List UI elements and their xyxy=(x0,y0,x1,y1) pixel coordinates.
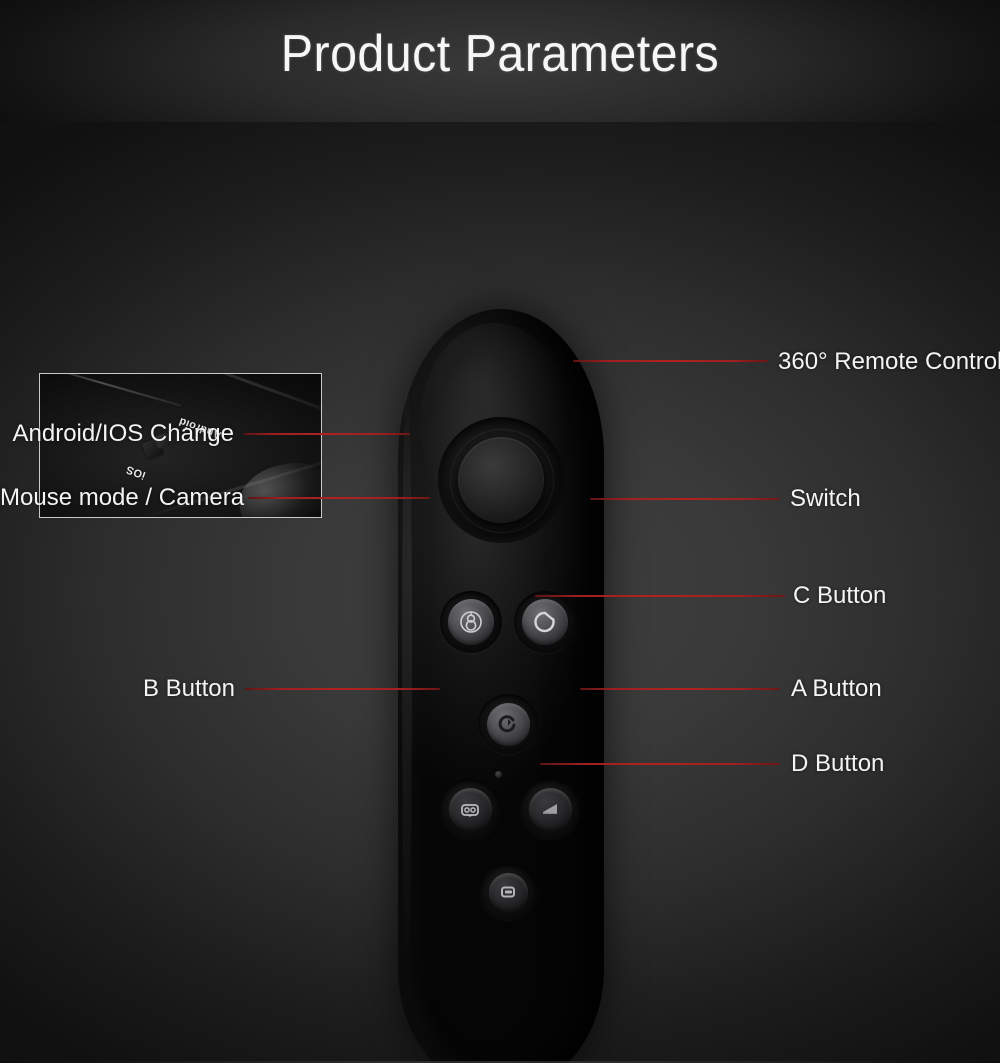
leader-line-mouse-mode-camera xyxy=(248,497,430,499)
c-button-face xyxy=(487,703,530,746)
callout-label-a-button: A Button xyxy=(791,677,882,701)
callout-label-c-button: C Button xyxy=(793,584,886,608)
leader-line-b-button xyxy=(245,688,440,690)
leader-line-android-ios-change xyxy=(244,433,410,435)
d-button-icon xyxy=(497,881,519,903)
mouse-camera-icon xyxy=(458,609,484,635)
leader-line-remote-control xyxy=(573,360,768,362)
callout-label-b-button: B Button xyxy=(0,677,235,701)
a-button-icon xyxy=(538,797,562,821)
leader-line-a-button xyxy=(580,688,780,690)
vr-goggles-icon xyxy=(458,797,482,821)
d-button[interactable] xyxy=(480,864,536,920)
callout-label-mouse-mode-camera: Mouse mode / Camera xyxy=(0,486,238,510)
callout-label-d-button: D Button xyxy=(791,752,884,776)
product-stage: iOS Android xyxy=(0,122,1000,1063)
joystick-well[interactable] xyxy=(438,417,564,543)
callout-label-remote-control: 360° Remote Control xyxy=(778,350,1000,374)
product-parameters-page: Product Parameters iOS Android xyxy=(0,0,1000,1063)
a-button-face xyxy=(529,788,572,831)
d-button-face xyxy=(489,873,528,912)
power-switch-button-face xyxy=(522,599,568,645)
b-button-face xyxy=(449,788,492,831)
leader-line-c-button xyxy=(535,595,785,597)
vr-remote-controller xyxy=(398,309,604,1063)
a-button[interactable] xyxy=(520,779,580,839)
power-switch-button[interactable] xyxy=(514,591,576,653)
callout-label-switch: Switch xyxy=(790,487,861,511)
mouse-camera-button[interactable] xyxy=(440,591,502,653)
led-indicator xyxy=(495,771,502,778)
callout-label-android-ios-change: Android/IOS Change xyxy=(0,422,234,446)
mouse-camera-button-face xyxy=(448,599,494,645)
c-button-icon xyxy=(496,712,520,736)
power-icon xyxy=(532,609,558,635)
leader-line-d-button xyxy=(540,763,780,765)
leader-line-switch xyxy=(590,498,780,500)
joystick-cap[interactable] xyxy=(458,437,544,523)
page-title: Product Parameters xyxy=(35,24,965,84)
b-button[interactable] xyxy=(440,779,500,839)
header-band: Product Parameters xyxy=(0,0,1000,122)
c-button[interactable] xyxy=(478,694,538,754)
